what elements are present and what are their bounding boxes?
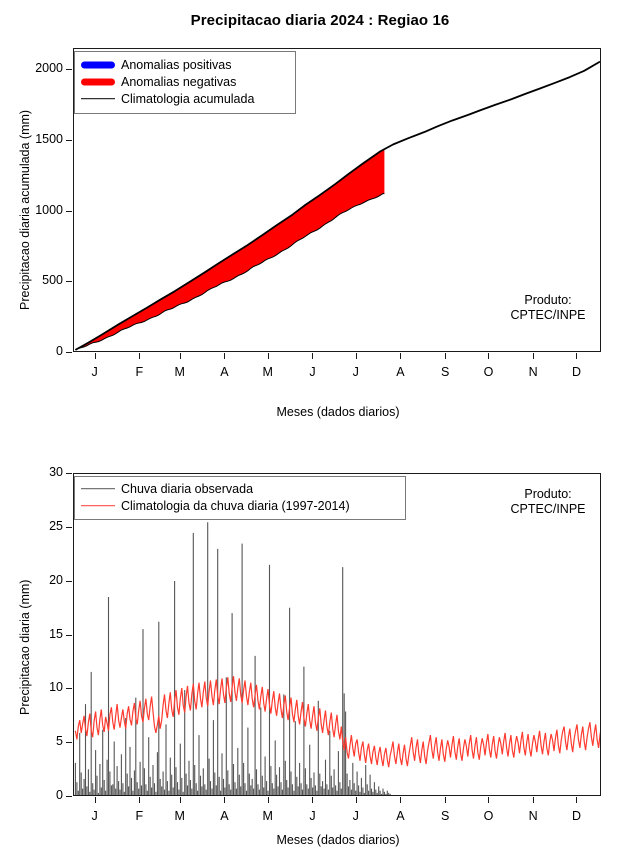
x-tick-label: J [80,809,110,823]
x-tick-mark [488,353,489,359]
x-tick-mark [356,353,357,359]
x-tick-label: N [518,365,548,379]
legend-item-climatologia-acumulada[interactable]: Climatologia acumulada [75,90,293,107]
legend-label-climatologia-acumulada: Climatologia acumulada [121,92,254,106]
black-line-swatch-icon [75,90,121,107]
x-tick-label: N [518,809,548,823]
x-tick-label: J [297,809,327,823]
y-tick-mark [66,352,72,353]
x-tick-mark [268,797,269,803]
x-tick-label: S [430,365,460,379]
produto-line-1: Produto: [488,487,608,502]
x-tick-mark [312,797,313,803]
y-tick-mark [66,211,72,212]
y-tick-mark [66,742,72,743]
accumulated-precipitation-chart: Precipitacao diaria acumulada (mm) Meses… [0,0,640,425]
y-tick-label: 5 [13,734,63,748]
x-tick-mark [576,797,577,803]
x-tick-label: A [209,809,239,823]
x-tick-mark [312,353,313,359]
climatology-daily-line [75,676,600,767]
y-tick-label: 10 [13,680,63,694]
x-tick-mark [576,353,577,359]
daily-plot-area [73,473,601,796]
legend-label-chuva-diaria-observada: Chuva diaria observada [121,482,253,496]
daily-produto-note: Produto: CPTEC/INPE [488,487,608,517]
x-tick-label: S [430,809,460,823]
x-tick-label: J [80,365,110,379]
y-tick-label: 2000 [13,61,63,75]
x-tick-label: M [165,365,195,379]
y-tick-label: 30 [13,465,63,479]
y-tick-label: 15 [13,627,63,641]
negative-anomaly-area [75,149,384,350]
produto-line-2: CPTEC/INPE [488,308,608,323]
x-tick-mark [95,797,96,803]
y-tick-mark [66,473,72,474]
x-tick-mark [533,353,534,359]
daily-x-axis-label: Meses (dados diarios) [173,833,503,847]
y-tick-label: 0 [13,788,63,802]
x-tick-mark [139,353,140,359]
x-tick-label: M [253,809,283,823]
x-tick-mark [139,797,140,803]
x-tick-mark [400,353,401,359]
y-tick-label: 1000 [13,203,63,217]
x-tick-mark [224,797,225,803]
precipitation-report-page: Precipitacao diaria 2024 : Regiao 16 Pre… [0,0,640,850]
x-tick-label: A [209,365,239,379]
accumulated-legend: Anomalias positivas Anomalias negativas … [74,51,296,114]
y-tick-label: 25 [13,519,63,533]
red-line-swatch-icon [75,73,121,90]
x-tick-label: D [561,365,591,379]
x-tick-label: A [385,809,415,823]
x-tick-label: M [253,365,283,379]
gray-line-swatch-icon [75,480,121,497]
x-tick-mark [400,797,401,803]
legend-item-anomalias-negativas[interactable]: Anomalias negativas [75,73,293,90]
legend-label-anomalias-positivas: Anomalias positivas [121,58,231,72]
accumulated-produto-note: Produto: CPTEC/INPE [488,293,608,323]
x-tick-label: J [297,365,327,379]
blue-line-swatch-icon [75,56,121,73]
x-tick-mark [445,797,446,803]
x-tick-mark [488,797,489,803]
daily-series-svg [74,474,600,795]
y-tick-mark [66,69,72,70]
daily-precipitation-chart: Precipitacao diaria (mm) Meses (dados di… [0,425,640,850]
x-tick-mark [180,797,181,803]
x-tick-mark [356,797,357,803]
daily-y-axis-label: Precipitacao diaria (mm) [18,580,32,715]
x-tick-label: O [473,365,503,379]
y-tick-label: 1500 [13,132,63,146]
x-tick-label: A [385,365,415,379]
x-tick-label: F [124,365,154,379]
red-line-swatch-icon [75,497,121,514]
x-tick-mark [180,353,181,359]
x-tick-label: F [124,809,154,823]
y-tick-mark [66,635,72,636]
observed-daily-spikes [75,522,390,795]
x-tick-mark [95,353,96,359]
y-tick-mark [66,581,72,582]
daily-legend: Chuva diaria observada Climatologia da c… [74,476,406,520]
legend-item-chuva-diaria-observada[interactable]: Chuva diaria observada [75,480,403,497]
legend-label-anomalias-negativas: Anomalias negativas [121,75,236,89]
produto-line-1: Produto: [488,293,608,308]
x-tick-label: J [341,365,371,379]
produto-line-2: CPTEC/INPE [488,502,608,517]
y-tick-mark [66,796,72,797]
x-tick-mark [533,797,534,803]
x-tick-mark [445,353,446,359]
y-tick-mark [66,140,72,141]
x-tick-mark [224,353,225,359]
x-tick-label: J [341,809,371,823]
y-tick-mark [66,281,72,282]
x-tick-label: O [473,809,503,823]
y-tick-label: 0 [13,344,63,358]
y-tick-label: 500 [13,273,63,287]
legend-label-climatologia-diaria: Climatologia da chuva diaria (1997-2014) [121,499,350,513]
y-tick-mark [66,527,72,528]
legend-item-anomalias-positivas[interactable]: Anomalias positivas [75,56,293,73]
y-tick-mark [66,688,72,689]
x-tick-mark [268,353,269,359]
x-tick-label: D [561,809,591,823]
accumulated-x-axis-label: Meses (dados diarios) [173,405,503,419]
legend-item-climatologia-diaria[interactable]: Climatologia da chuva diaria (1997-2014) [75,497,403,514]
x-tick-label: M [165,809,195,823]
y-tick-label: 20 [13,573,63,587]
